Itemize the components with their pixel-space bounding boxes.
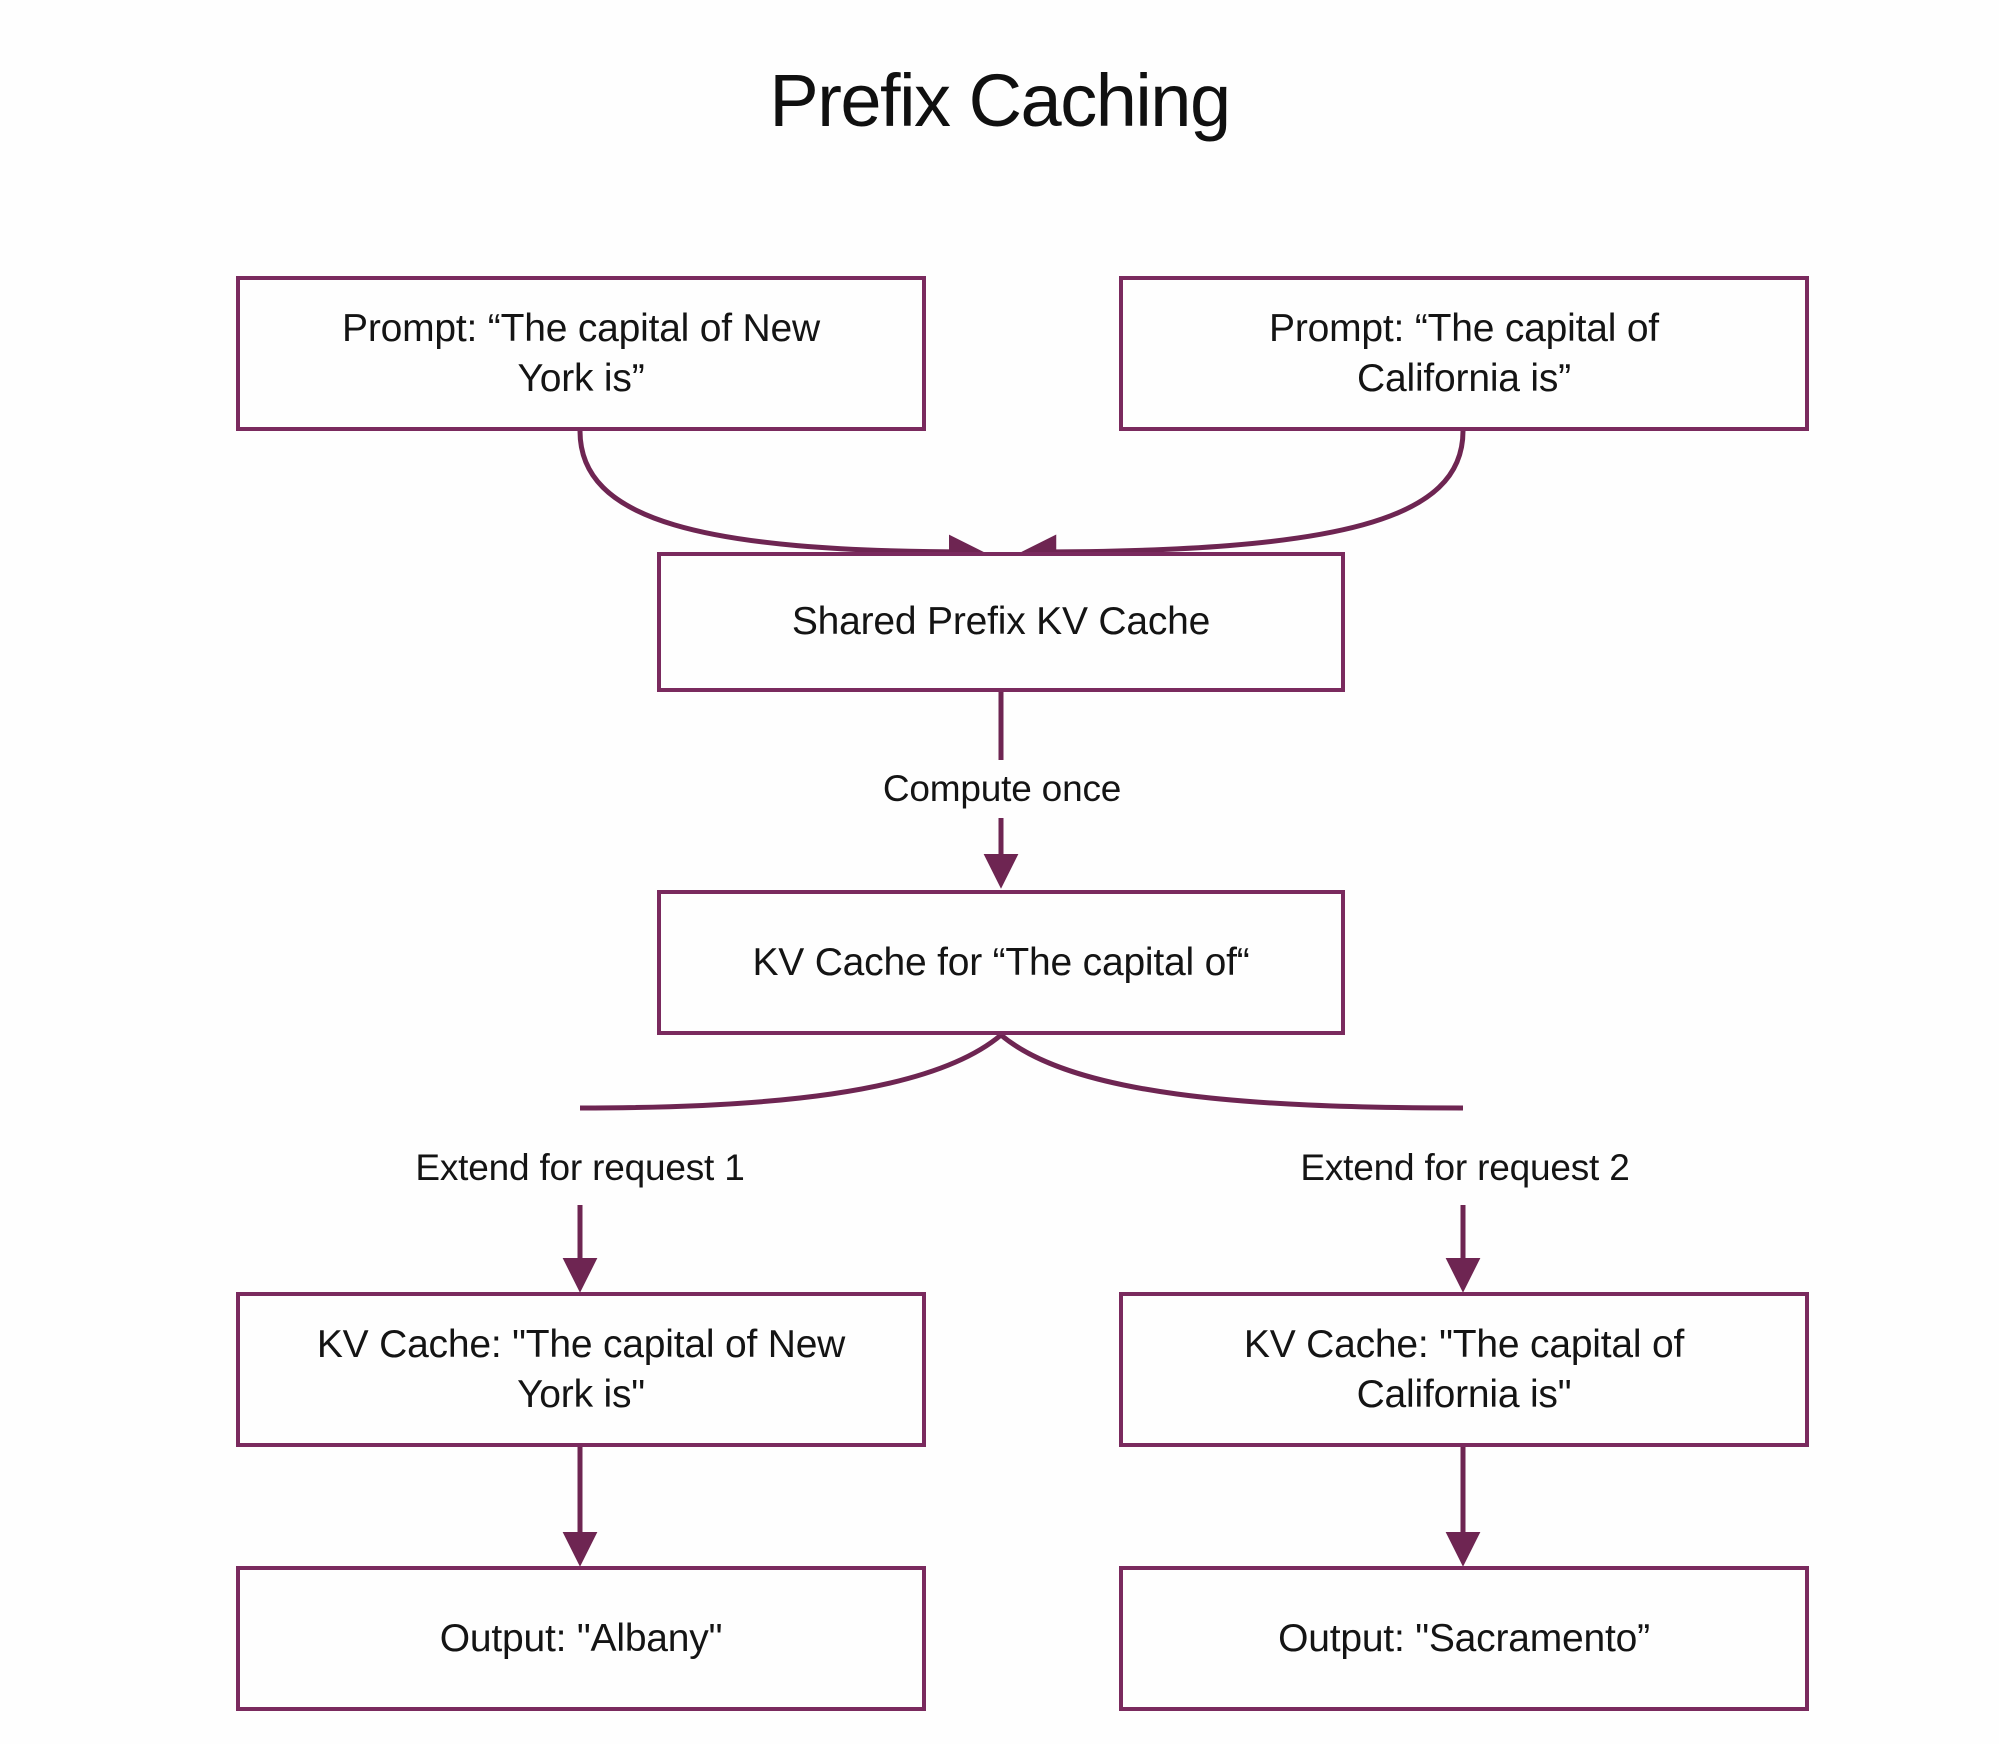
edge-label-compute-once: Compute once (757, 768, 1247, 810)
edge-label-extend-for-request-1: Extend for request 1 (300, 1147, 860, 1189)
node-kv-cache-request-1-label: KV Cache: "The capital of New York is" (295, 1320, 867, 1420)
diagram-canvas: Prefix Caching Prompt: “The (0, 0, 1999, 1744)
node-kv-cache-for-prefix-label: KV Cache for “The capital of“ (730, 938, 1271, 988)
page-title: Prefix Caching (0, 58, 1999, 143)
edge-prompt-right-to-shared-cache (1030, 431, 1463, 552)
node-kv-cache-request-2-label: KV Cache: "The capital of California is" (1222, 1320, 1706, 1420)
node-output-request-1[interactable]: Output: "Albany" (236, 1566, 926, 1711)
node-kv-cache-request-1[interactable]: KV Cache: "The capital of New York is" (236, 1292, 926, 1447)
node-output-request-2[interactable]: Output: "Sacramento” (1119, 1566, 1809, 1711)
node-prompt-left-label: Prompt: “The capital of New York is” (320, 304, 842, 404)
node-prompt-right[interactable]: Prompt: “The capital of California is” (1119, 276, 1809, 431)
edge-label-extend-for-request-2: Extend for request 2 (1185, 1147, 1745, 1189)
edge-prompt-left-to-shared-cache (580, 431, 975, 552)
node-output-request-2-label: Output: "Sacramento” (1256, 1614, 1672, 1664)
node-output-request-1-label: Output: "Albany" (418, 1614, 744, 1664)
edge-layer (0, 0, 1999, 1744)
edge-prefix-cache-to-branch-2 (1001, 1035, 1463, 1108)
node-kv-cache-request-2[interactable]: KV Cache: "The capital of California is" (1119, 1292, 1809, 1447)
node-shared-prefix-kv-cache[interactable]: Shared Prefix KV Cache (657, 552, 1345, 692)
node-kv-cache-for-prefix[interactable]: KV Cache for “The capital of“ (657, 890, 1345, 1035)
node-prompt-left[interactable]: Prompt: “The capital of New York is” (236, 276, 926, 431)
node-shared-prefix-kv-cache-label: Shared Prefix KV Cache (770, 597, 1232, 647)
node-prompt-right-label: Prompt: “The capital of California is” (1247, 304, 1681, 404)
edge-prefix-cache-to-branch-1 (580, 1035, 1001, 1108)
